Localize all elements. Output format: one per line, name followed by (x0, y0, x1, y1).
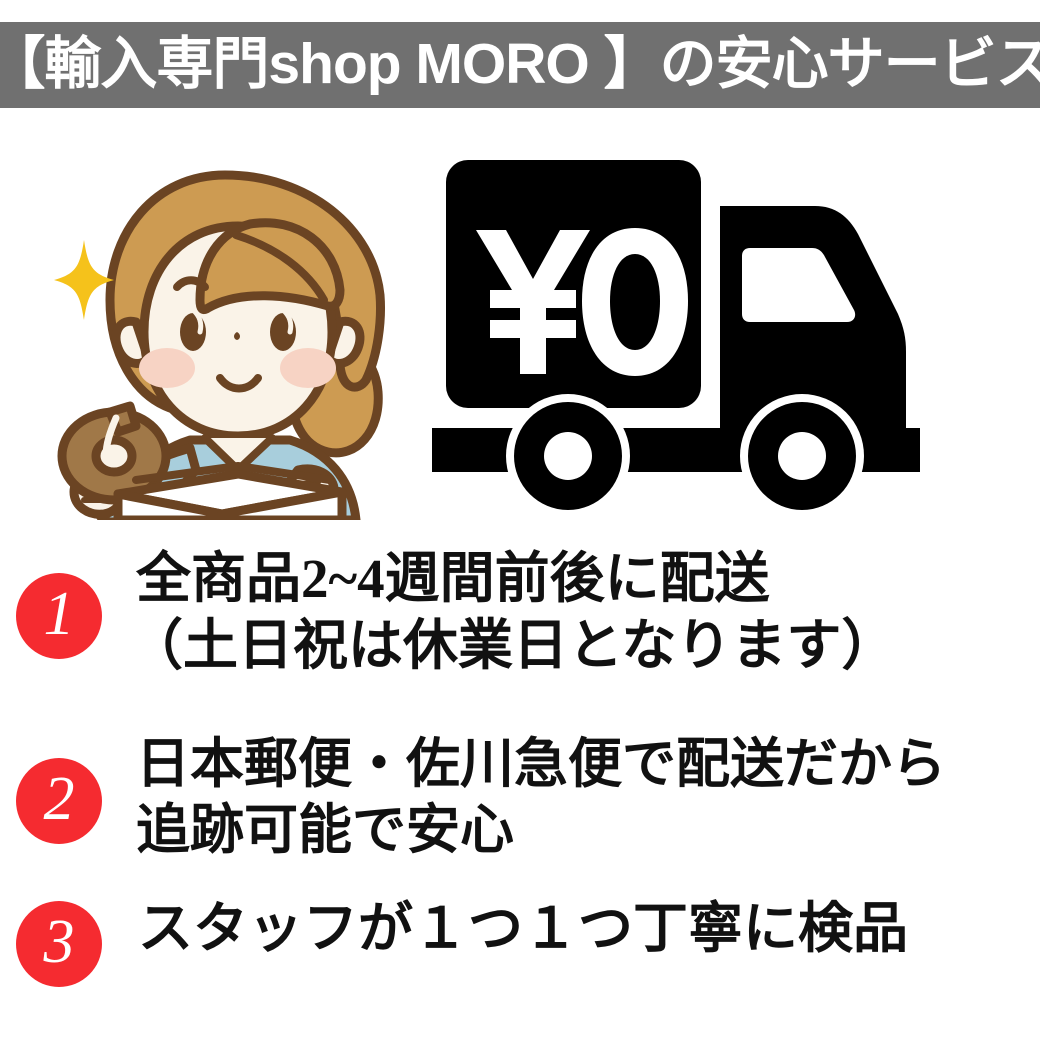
header-banner: 【輸入専門shop MORO 】の安心サービス (0, 22, 1040, 108)
service-badge-2: 2 (16, 758, 102, 844)
sparkle-icon (54, 240, 114, 320)
badge-number: 1 (16, 571, 102, 657)
page-title: 【輸入専門shop MORO 】の安心サービス (0, 36, 1040, 93)
service-text-2: 日本郵便・佐川急便で配送だから 追跡可能で安心 (136, 732, 1040, 864)
service-badge-1: 1 (16, 573, 102, 659)
promo-banner-page: 【輸入専門shop MORO 】の安心サービス (0, 0, 1040, 1040)
service-text-2-line-2: 追跡可能で安心 (136, 798, 1040, 864)
illustration-row (0, 120, 1040, 530)
staff-woman-icon (40, 140, 410, 520)
service-text-1: 全商品2~4週間前後に配送 （土日祝は休業日となります） (136, 545, 1040, 679)
service-text-3-line-1: スタッフが１つ１つ丁寧に検品 (138, 895, 1040, 962)
service-text-1-line-1: 全商品2~4週間前後に配送 (136, 545, 1040, 612)
service-item-3: 3 スタッフが１つ１つ丁寧に検品 (16, 895, 1040, 1005)
service-text-2-line-1: 日本郵便・佐川急便で配送だから (136, 732, 1040, 798)
service-item-2: 2 日本郵便・佐川急便で配送だから 追跡可能で安心 (16, 732, 1040, 887)
service-item-1: 1 全商品2~4週間前後に配送 （土日祝は休業日となります） (16, 545, 1040, 720)
service-text-3: スタッフが１つ１つ丁寧に検品 (138, 895, 1040, 962)
badge-number: 2 (16, 756, 102, 842)
badge-number: 3 (16, 899, 102, 985)
free-shipping-truck-icon (420, 138, 1020, 518)
service-badge-3: 3 (16, 901, 102, 987)
service-list: 1 全商品2~4週間前後に配送 （土日祝は休業日となります） 2 日本郵便・佐川… (0, 545, 1040, 1005)
service-text-1-line-2: （土日祝は休業日となります） (128, 612, 1040, 679)
